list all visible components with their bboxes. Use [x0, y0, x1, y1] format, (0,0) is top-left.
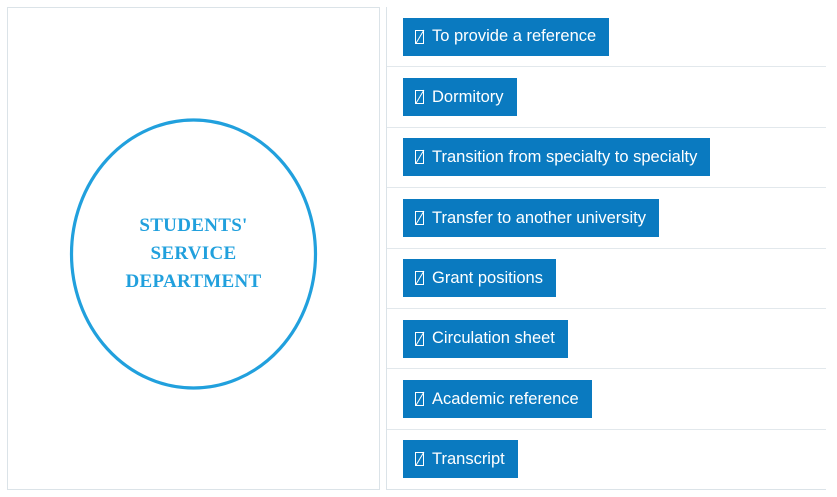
missing-glyph-box-icon [415, 271, 424, 285]
missing-glyph-box-icon [415, 452, 424, 466]
service-badge-grant-positions[interactable]: Grant positions [403, 259, 556, 297]
missing-glyph-box-icon [415, 211, 424, 225]
missing-glyph-box-icon [415, 150, 424, 164]
service-label: Grant positions [432, 270, 543, 287]
service-label: Circulation sheet [432, 330, 555, 347]
department-panel: STUDENTS' SERVICE DEPARTMENT [7, 7, 380, 490]
services-overview-page: STUDENTS' SERVICE DEPARTMENT To provide … [0, 0, 837, 497]
services-list: To provide a reference Dormitory Transit… [386, 7, 826, 490]
service-badge-transition-from-specialty-to-specialty[interactable]: Transition from specialty to specialty [403, 138, 710, 176]
service-label: Transfer to another university [432, 210, 646, 227]
list-item[interactable]: Transfer to another university [387, 188, 826, 248]
service-label: Transcript [432, 451, 505, 468]
missing-glyph-box-icon [415, 30, 424, 44]
circle-outline-icon [69, 118, 318, 390]
service-badge-academic-reference[interactable]: Academic reference [403, 380, 592, 418]
missing-glyph-box-icon [415, 392, 424, 406]
list-item[interactable]: Dormitory [387, 67, 826, 127]
list-item[interactable]: Circulation sheet [387, 309, 826, 369]
service-label: Academic reference [432, 391, 579, 408]
service-label: Dormitory [432, 89, 504, 106]
list-item[interactable]: Academic reference [387, 369, 826, 429]
service-badge-circulation-sheet[interactable]: Circulation sheet [403, 320, 568, 358]
service-label: Transition from specialty to specialty [432, 149, 697, 166]
service-badge-transcript[interactable]: Transcript [403, 440, 518, 478]
service-badge-dormitory[interactable]: Dormitory [403, 78, 517, 116]
missing-glyph-box-icon [415, 332, 424, 346]
service-badge-transfer-to-another-university[interactable]: Transfer to another university [403, 199, 659, 237]
department-circle: STUDENTS' SERVICE DEPARTMENT [69, 118, 318, 390]
service-badge-to-provide-a-reference[interactable]: To provide a reference [403, 18, 609, 56]
list-item[interactable]: Transcript [387, 430, 826, 490]
missing-glyph-box-icon [415, 90, 424, 104]
service-label: To provide a reference [432, 28, 596, 45]
list-item[interactable]: To provide a reference [387, 7, 826, 67]
list-item[interactable]: Grant positions [387, 249, 826, 309]
list-item[interactable]: Transition from specialty to specialty [387, 128, 826, 188]
